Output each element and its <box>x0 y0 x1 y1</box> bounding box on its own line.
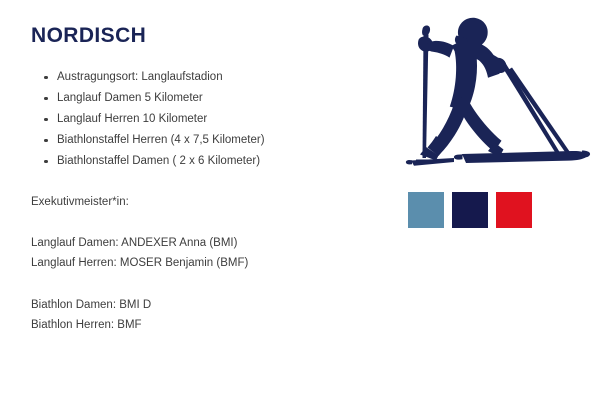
bullet-icon <box>44 97 48 101</box>
swatch-red <box>496 192 532 228</box>
list-item: Langlauf Damen 5 Kilometer <box>44 88 391 109</box>
page-title: NORDISCH <box>31 24 391 47</box>
biathlon-officials-block: Biathlon Damen: BMI D Biathlon Herren: B… <box>31 295 391 335</box>
bullet-icon <box>44 160 48 164</box>
official-line: Langlauf Damen: ANDEXER Anna (BMI) <box>31 233 391 253</box>
official-line: Langlauf Herren: MOSER Benjamin (BMF) <box>31 253 391 273</box>
swatch-steel-blue <box>408 192 444 228</box>
official-line: Biathlon Damen: BMI D <box>31 295 391 315</box>
list-item: Langlauf Herren 10 Kilometer <box>44 109 391 130</box>
officials-heading: Exekutivmeister*in: <box>31 194 391 211</box>
list-item-label: Biathlonstaffel Herren (4 x 7,5 Kilomete… <box>57 134 265 146</box>
official-line: Biathlon Herren: BMF <box>31 315 391 335</box>
page-root: NORDISCH Austragungsort: Langlaufstadion… <box>0 0 600 400</box>
content-column: NORDISCH Austragungsort: Langlaufstadion… <box>31 0 391 335</box>
cross-country-skier-icon <box>396 8 594 176</box>
swatch-navy <box>452 192 488 228</box>
list-item: Biathlonstaffel Damen ( 2 x 6 Kilometer) <box>44 151 391 172</box>
list-item: Biathlonstaffel Herren (4 x 7,5 Kilomete… <box>44 130 391 151</box>
cross-country-officials-block: Langlauf Damen: ANDEXER Anna (BMI) Langl… <box>31 233 391 273</box>
list-item-label: Austragungsort: Langlaufstadion <box>57 71 223 83</box>
event-list: Austragungsort: Langlaufstadion Langlauf… <box>31 67 391 172</box>
list-item-label: Biathlonstaffel Damen ( 2 x 6 Kilometer) <box>57 155 260 167</box>
list-item-label: Langlauf Damen 5 Kilometer <box>57 92 203 104</box>
bullet-icon <box>44 139 48 143</box>
list-item: Austragungsort: Langlaufstadion <box>44 67 391 88</box>
list-item-label: Langlauf Herren 10 Kilometer <box>57 113 207 125</box>
illustration-column <box>396 8 596 238</box>
color-swatch-row <box>408 192 532 228</box>
bullet-icon <box>44 76 48 80</box>
bullet-icon <box>44 118 48 122</box>
